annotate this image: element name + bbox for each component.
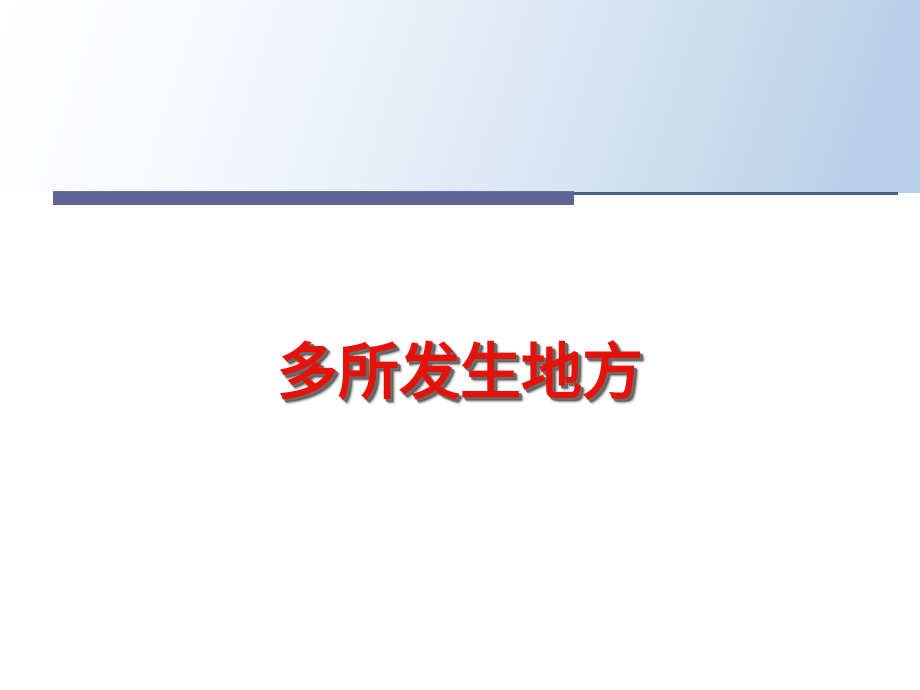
slide-title: 多所发生地方 [277,337,643,409]
title-block: 多所发生地方 [0,337,920,409]
header-gradient-band [0,0,920,193]
slide-canvas: 多所发生地方 [0,0,920,690]
header-accent-bar [53,191,574,205]
